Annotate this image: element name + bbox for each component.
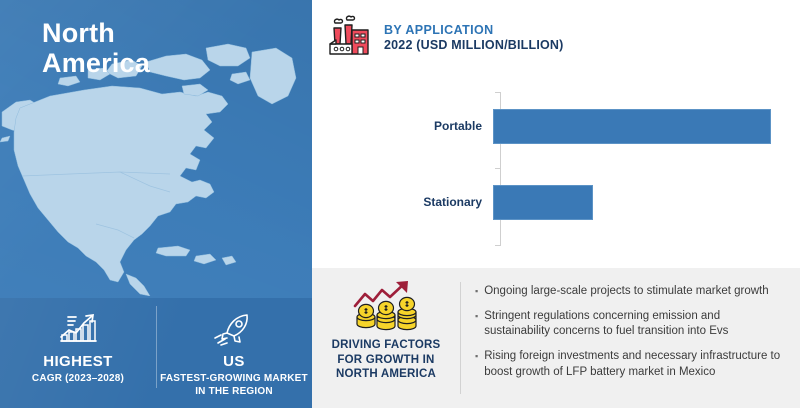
list-item-text: Stringent regulations concerning emissio…	[484, 309, 786, 340]
rocket-icon	[156, 311, 312, 347]
driving-factors-list: ▪ Ongoing large-scale projects to stimul…	[461, 268, 800, 389]
stat-highest-cagr: HIGHEST CAGR (2023–2028)	[0, 298, 156, 386]
list-item: ▪ Rising foreign investments and necessa…	[475, 349, 786, 380]
factory-icon	[326, 14, 374, 60]
stat-headline: US	[156, 353, 312, 370]
stat-headline: HIGHEST	[0, 353, 156, 370]
driving-factors-heading-line2: FOR GROWTH IN	[312, 353, 460, 368]
region-infographic: North America	[0, 0, 800, 408]
chart-subtitle: 2022 (USD MILLION/BILLION)	[384, 38, 564, 52]
list-item: ▪ Ongoing large-scale projects to stimul…	[475, 284, 786, 300]
bar-category-label: Portable	[312, 119, 492, 133]
bullet-icon: ▪	[475, 349, 478, 363]
chart-panel: BY APPLICATION 2022 (USD MILLION/BILLION…	[312, 0, 800, 268]
axis-tick-mid	[495, 168, 501, 169]
bar-portable[interactable]	[493, 109, 771, 144]
list-item-text: Ongoing large-scale projects to stimulat…	[484, 284, 768, 300]
bar-chart: Portable Stationary	[312, 80, 800, 260]
region-title-line1: North	[42, 18, 150, 48]
bullet-icon: ▪	[475, 309, 478, 323]
bar-category-label: Stationary	[312, 195, 492, 209]
driving-factors-heading: DRIVING FACTORS FOR GROWTH IN NORTH AMER…	[312, 338, 460, 382]
driving-factors-heading-line1: DRIVING FACTORS	[312, 338, 460, 353]
region-stats-bar: HIGHEST CAGR (2023–2028)	[0, 298, 312, 408]
chart-title: BY APPLICATION	[384, 23, 564, 37]
stat-sublabel: FASTEST-GROWING MARKET IN THE REGION	[156, 373, 312, 399]
region-panel: North America	[0, 0, 312, 408]
list-item: ▪ Stringent regulations concerning emiss…	[475, 309, 786, 340]
bar-row: Portable	[312, 108, 800, 144]
bullet-icon: ▪	[475, 284, 478, 298]
chart-header: BY APPLICATION 2022 (USD MILLION/BILLION…	[326, 14, 564, 60]
region-title-line2: America	[42, 48, 150, 78]
stat-sublabel: CAGR (2023–2028)	[0, 373, 156, 386]
page-title: North America	[42, 18, 150, 78]
list-item-text: Rising foreign investments and necessary…	[484, 349, 786, 380]
bar-row: Stationary	[312, 184, 800, 220]
bar-chart-growth-icon	[0, 311, 156, 347]
driving-factors-panel: DRIVING FACTORS FOR GROWTH IN NORTH AMER…	[312, 268, 800, 408]
coins-growth-icon	[349, 280, 423, 332]
driving-factors-heading-line3: NORTH AMERICA	[312, 367, 460, 382]
driving-factors-heading-block: DRIVING FACTORS FOR GROWTH IN NORTH AMER…	[312, 268, 460, 382]
stat-fastest-growing-country: US FASTEST-GROWING MARKET IN THE REGION	[156, 298, 312, 399]
axis-tick-top	[495, 92, 501, 93]
bar-stationary[interactable]	[493, 185, 593, 220]
axis-tick-bottom	[495, 245, 501, 246]
